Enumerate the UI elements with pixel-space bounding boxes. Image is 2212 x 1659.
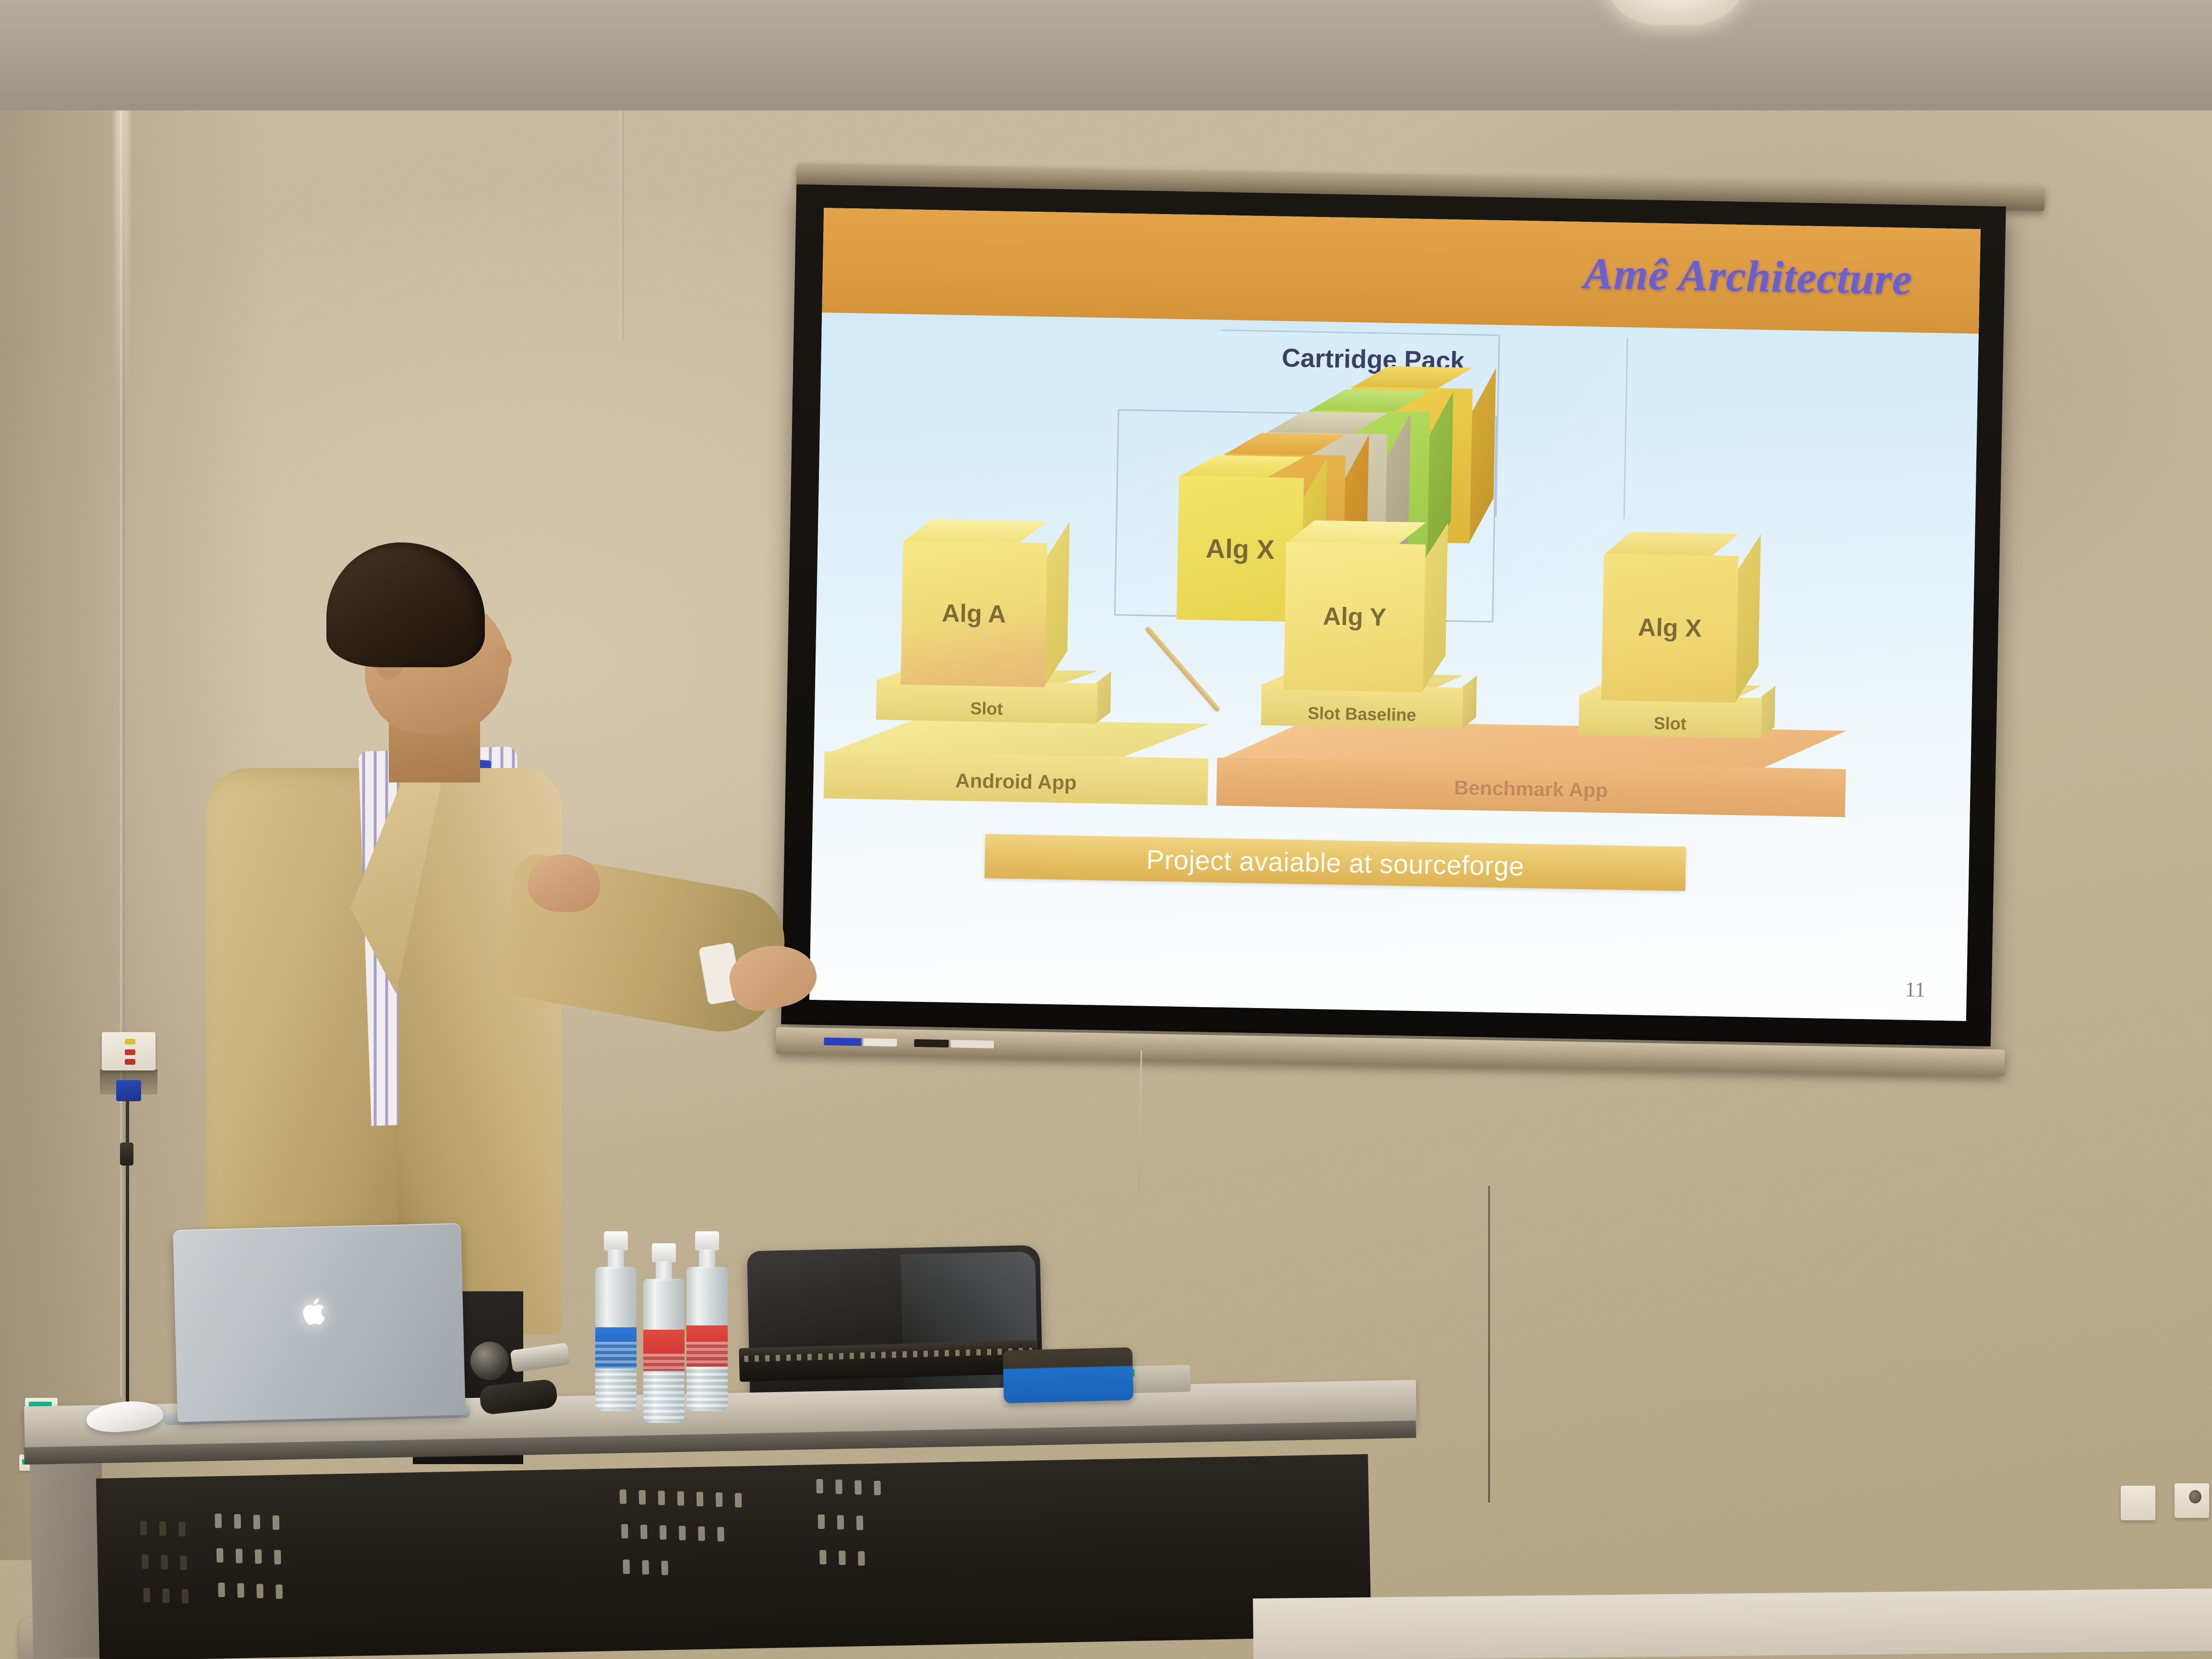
rail-marker-dark (914, 1039, 949, 1047)
desk-vent (660, 1525, 667, 1539)
block-alg-x-label: Alg Y (1284, 542, 1426, 692)
desk-vent (215, 1514, 222, 1528)
second-desk (1253, 1588, 2212, 1659)
desk-vent (273, 1515, 280, 1530)
block-alg-x: Alg Y (1284, 542, 1426, 692)
presentation-slide: Amê Architecture Cartridge Pack (809, 208, 1981, 1021)
desk-vent (661, 1561, 669, 1575)
bottle-ridges (686, 1342, 728, 1411)
rail-marker-blue (824, 1037, 861, 1046)
wall-cable (1488, 1186, 1490, 1503)
vga-plug (116, 1080, 141, 1101)
desk-vent (658, 1491, 665, 1505)
block-alg-a-top (903, 518, 1048, 544)
rca-yellow-icon (125, 1039, 135, 1045)
bottle-neck (656, 1262, 672, 1281)
desk-vent (818, 1515, 825, 1529)
wall-plate-blank (2121, 1486, 2155, 1520)
ceiling (0, 0, 2212, 110)
cartridge-1-alg-x: Alg X (1177, 476, 1304, 622)
desk-vent (161, 1555, 168, 1569)
desk-vent (874, 1481, 881, 1495)
lens-object (470, 1342, 509, 1380)
presenter-nose (494, 647, 512, 670)
bottle-ridges (643, 1354, 685, 1423)
rail-marker-white-1 (863, 1038, 897, 1046)
desk-vent (856, 1515, 864, 1530)
connector-to-alg-a (1144, 625, 1221, 712)
projection-screen: Amê Architecture Cartridge Pack (781, 184, 2006, 1046)
desk-vent (237, 1583, 244, 1598)
block-alg-a: Alg A (901, 541, 1047, 687)
bottle-cap (652, 1243, 676, 1262)
desk-vent (717, 1527, 724, 1541)
desk-vent (216, 1548, 224, 1563)
desk-vent (716, 1492, 723, 1507)
sourceforge-banner: Project avaiable at sourceforge (985, 834, 1686, 891)
desk-vent (162, 1588, 169, 1603)
desk-vent (735, 1493, 742, 1507)
desk-vent (234, 1514, 241, 1528)
desk-vent (816, 1479, 823, 1493)
block-alg-a-label: Alg A (901, 541, 1047, 687)
desk-vent (621, 1524, 628, 1539)
block-alg-a-side (1044, 521, 1070, 688)
cable-ferrite-core (120, 1142, 133, 1166)
desk-vent (181, 1589, 189, 1603)
desk-vent (140, 1521, 147, 1535)
desk-vent (218, 1583, 225, 1597)
android-app-base: Android App (824, 717, 1209, 805)
desk-vent (142, 1554, 149, 1569)
desk-vent (159, 1521, 167, 1536)
screen-pull-cord[interactable] (1138, 1050, 1142, 1194)
desk-vent (858, 1551, 865, 1565)
slide-title: Amê Architecture (1583, 248, 1912, 305)
desk-vent (255, 1549, 262, 1563)
wall-seam-mid (619, 72, 624, 341)
desk-vent (179, 1522, 186, 1536)
block-alg-y-side (1735, 534, 1761, 703)
rca-red-2-icon (125, 1059, 135, 1065)
apple-logo-icon (302, 1296, 330, 1327)
blue-device-box[interactable] (1003, 1347, 1134, 1404)
desk-vent (236, 1549, 243, 1563)
cartridge-1-label: Alg X (1177, 476, 1304, 622)
wall-light-reflection (115, 77, 129, 413)
desk-vent (640, 1525, 648, 1539)
wall-plate-socket (2175, 1483, 2209, 1518)
desk-vent (276, 1585, 283, 1599)
desk-vent (180, 1555, 187, 1570)
desk-front-panel (96, 1454, 1371, 1659)
slide-page-number: 11 (1905, 977, 1925, 1002)
desk-vent (839, 1551, 846, 1565)
socket-hole-icon (2189, 1490, 2201, 1503)
desk-vent (697, 1492, 704, 1506)
rail-marker-white-2 (950, 1040, 994, 1048)
presenter-left-hand (528, 854, 600, 912)
slot-baseline-side (1462, 675, 1477, 730)
desk-vent (679, 1526, 686, 1540)
rca-red-1-icon (125, 1049, 135, 1055)
bottle-cap (604, 1231, 628, 1250)
bottle-neck (608, 1250, 624, 1269)
desk-vent (698, 1527, 705, 1541)
desk-vent (837, 1515, 844, 1529)
av-wall-plate (102, 1032, 156, 1070)
block-alg-y-label: Alg X (1601, 553, 1739, 703)
desk-vent (677, 1491, 685, 1505)
bottle-cap (695, 1231, 719, 1250)
desk-vent (819, 1550, 827, 1564)
desk-vent (854, 1480, 862, 1494)
sourceforge-banner-text: Project avaiable at sourceforge (1146, 843, 1525, 881)
android-slot-side (1096, 671, 1111, 724)
room-scene: Amê Architecture Cartridge Pack (0, 0, 2212, 1659)
desk-vent (620, 1490, 627, 1504)
desk-vent (642, 1560, 649, 1575)
desk-vent (143, 1588, 150, 1602)
desk-vent (274, 1550, 281, 1564)
bottle-ridges (595, 1342, 637, 1411)
desk-vent (253, 1515, 261, 1529)
desk-vent (835, 1479, 842, 1494)
desk-vent (639, 1490, 646, 1504)
desk-vent (256, 1584, 264, 1598)
projection-screen-assembly: Amê Architecture Cartridge Pack (779, 163, 2093, 1195)
bottle-neck (699, 1250, 715, 1269)
block-alg-y: Alg X (1601, 553, 1739, 703)
presenter-hair (326, 542, 485, 667)
desk-vent (623, 1560, 630, 1574)
